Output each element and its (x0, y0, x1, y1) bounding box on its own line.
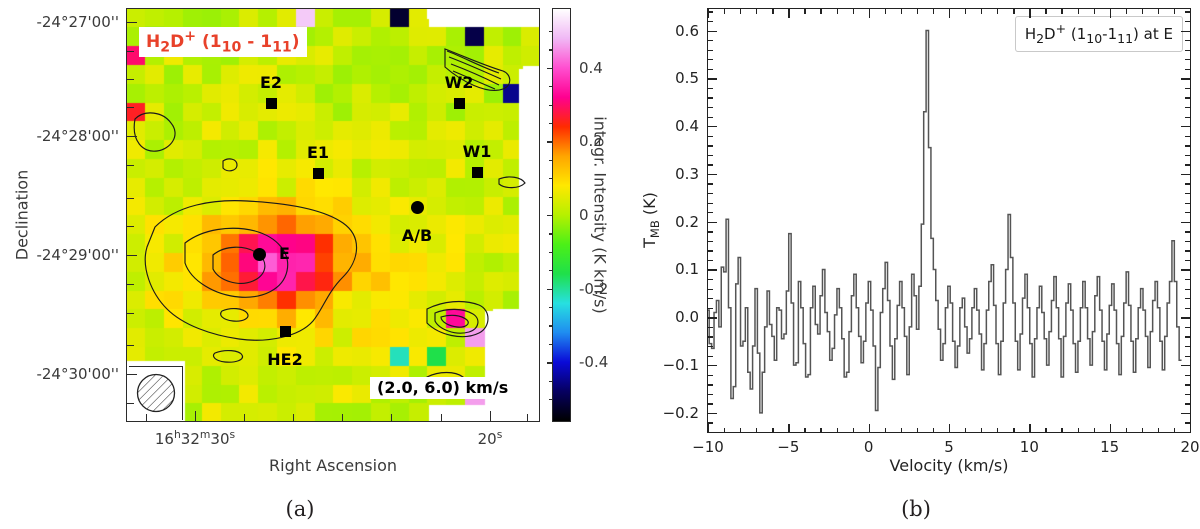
spectrum-y-tick-right (1185, 136, 1190, 137)
spectrum-y-tick-right (1185, 308, 1190, 309)
spectrum-y-tick (708, 365, 717, 366)
spectrum-y-minor-tick (708, 183, 713, 184)
spectrum-y-tick-right (1185, 193, 1190, 194)
spectrum-y-tick (708, 269, 717, 270)
spectrum-y-tick-right (1185, 50, 1190, 51)
spectrum-y-tick (708, 78, 717, 79)
spectrum-x-tick-top (869, 9, 870, 18)
spectrum-x-tick-top (965, 9, 966, 14)
spectrum-y-minor-tick (708, 69, 713, 70)
spectrum-x-minor-tick (997, 428, 998, 433)
spectrum-y-tick-right (1185, 183, 1190, 184)
spectrum-x-tick (1029, 424, 1030, 433)
spectrum-y-tick-right (1185, 327, 1190, 328)
spectrum-y-minor-tick (708, 231, 713, 232)
spectrum-x-minor-tick (965, 428, 966, 433)
spectrum-x-tick-top (1029, 9, 1030, 18)
spectrum-x-tick-label: 0 (864, 438, 874, 456)
spectrum-x-tick-label: −5 (777, 438, 799, 456)
spectrum-y-minor-tick (708, 375, 713, 376)
spectrum-y-tick-right (1181, 222, 1190, 223)
spectrum-y-tick-right (1185, 289, 1190, 290)
spectrum-y-tick-right (1185, 422, 1190, 423)
panel-b-letter: (b) (901, 497, 931, 521)
spectrum-y-minor-tick (708, 394, 713, 395)
spectrum-y-minor-tick (708, 21, 713, 22)
spectrum-y-tick-right (1185, 336, 1190, 337)
spectrum-x-minor-tick (1078, 428, 1079, 433)
spectrum-x-tick (1110, 424, 1111, 433)
spectrum-y-tick-right (1185, 145, 1190, 146)
spectrum-x-tick-top (949, 9, 950, 18)
spectrum-x-tick (1190, 424, 1191, 433)
spectrum-y-tick-right (1181, 31, 1190, 32)
spectrum-y-tick-right (1185, 260, 1190, 261)
spectrum-y-tick-right (1185, 298, 1190, 299)
spectrum-x-minor-tick (885, 428, 886, 433)
spectrum-x-minor-tick (724, 428, 725, 433)
spectrum-x-tick-top (788, 9, 789, 18)
spectrum-y-tick-label: 0.0 (653, 308, 699, 326)
spectrum-y-tick-right (1185, 241, 1190, 242)
spectrum-y-tick-label: 0.4 (653, 117, 699, 135)
spectrum-y-tick (708, 126, 717, 127)
spectrum-y-tick-label: 0.6 (653, 22, 699, 40)
spectrum-y-minor-tick (708, 336, 713, 337)
spectrum-x-tick-top (933, 9, 934, 14)
spectrum-x-tick-top (837, 9, 838, 14)
spectrum-y-minor-tick (708, 107, 713, 108)
spectrum-y-tick-right (1181, 126, 1190, 127)
spectrum-x-tick-top (981, 9, 982, 14)
figure-root: E2W2E1W1A/BEHE2 H2D+ (110 - 111) (2.0, 6… (0, 0, 1200, 529)
spectrum-y-tick (708, 174, 717, 175)
spectrum-y-tick-right (1185, 279, 1190, 280)
spectrum-x-tick-label: 15 (1100, 438, 1119, 456)
spectrum-x-tick-top (1174, 9, 1175, 14)
spectrum-x-tick-top (756, 9, 757, 14)
spectrum-y-tick-right (1185, 356, 1190, 357)
spectrum-y-minor-tick (708, 289, 713, 290)
spectrum-x-tick (949, 424, 950, 433)
spectrum-y-minor-tick (708, 145, 713, 146)
spectrum-y-tick-label: −0.1 (653, 356, 699, 374)
spectrum-y-tick-label: −0.2 (653, 404, 699, 422)
spectrum-y-tick-right (1185, 250, 1190, 251)
spectrum-x-minor-tick (1158, 428, 1159, 433)
spectrum-y-tick-label: 0.3 (653, 165, 699, 183)
spectrum-y-minor-tick (708, 327, 713, 328)
spectrum-y-tick-label: 0.5 (653, 69, 699, 87)
spectrum-y-minor-tick (708, 117, 713, 118)
spectrum-x-tick-top (1094, 9, 1095, 14)
spectrum-y-tick-right (1185, 107, 1190, 108)
spectrum-x-minor-tick (772, 428, 773, 433)
spectrum-y-minor-tick (708, 260, 713, 261)
spectrum-x-tick-top (1061, 9, 1062, 14)
spectrum-x-tick-top (1142, 9, 1143, 14)
spectrum-x-minor-tick (917, 428, 918, 433)
spectrum-x-minor-tick (837, 428, 838, 433)
spectrum-x-tick-label: 20 (1180, 438, 1199, 456)
spectrum-xlabel: Velocity (km/s) (890, 456, 1009, 475)
spectrum-x-tick-top (708, 9, 709, 18)
spectrum-x-tick-top (917, 9, 918, 14)
spectrum-x-tick-top (1045, 9, 1046, 14)
spectrum-y-tick-right (1185, 403, 1190, 404)
spectrum-y-minor-tick (708, 403, 713, 404)
spectrum-y-minor-tick (708, 59, 713, 60)
spectrum-x-tick-top (853, 9, 854, 14)
spectrum-y-minor-tick (708, 40, 713, 41)
spectrum-y-tick-right (1185, 21, 1190, 22)
spectrum-x-tick (869, 424, 870, 433)
spectrum-x-minor-tick (1013, 428, 1014, 433)
spectrum-y-tick-right (1185, 164, 1190, 165)
spectrum-y-tick-right (1185, 40, 1190, 41)
spectrum-y-tick-right (1181, 174, 1190, 175)
spectrum-y-minor-tick (708, 250, 713, 251)
spectrum-y-tick-right (1181, 413, 1190, 414)
spectrum-y-tick-right (1185, 212, 1190, 213)
spectrum-x-minor-tick (756, 428, 757, 433)
spectrum-y-tick (708, 222, 717, 223)
spectrum-y-minor-tick (708, 308, 713, 309)
spectrum-y-tick-right (1185, 117, 1190, 118)
spectrum-y-tick (708, 317, 717, 318)
spectrum-y-tick-label: 0.1 (653, 260, 699, 278)
spectrum-x-tick-top (1158, 9, 1159, 14)
spectrum-x-tick-top (1110, 9, 1111, 18)
spectrum-x-tick-label: 5 (944, 438, 954, 456)
spectrum-x-tick-top (1078, 9, 1079, 14)
spectrum-ylabel: TMB (K) (640, 192, 662, 248)
spectrum-x-minor-tick (1061, 428, 1062, 433)
spectrum-y-minor-tick (708, 11, 713, 12)
spectrum-y-tick-right (1185, 88, 1190, 89)
spectrum-x-minor-tick (804, 428, 805, 433)
spectrum-y-tick-right (1181, 269, 1190, 270)
spectrum-y-minor-tick (708, 356, 713, 357)
spectrum-x-tick-top (1126, 9, 1127, 14)
spectrum-x-tick-top (724, 9, 725, 14)
spectrum-y-tick-right (1185, 432, 1190, 433)
spectrum-x-minor-tick (1174, 428, 1175, 433)
spectrum-x-minor-tick (1094, 428, 1095, 433)
spectrum-axes: −10−505101520−0.2−0.10.00.10.20.30.40.50… (0, 0, 1200, 500)
spectrum-x-tick-label: −10 (692, 438, 724, 456)
spectrum-y-minor-tick (708, 346, 713, 347)
spectrum-y-minor-tick (708, 136, 713, 137)
spectrum-y-minor-tick (708, 155, 713, 156)
spectrum-y-tick (708, 31, 717, 32)
spectrum-x-tick-top (997, 9, 998, 14)
spectrum-x-tick-top (1190, 9, 1191, 18)
spectrum-y-tick-right (1185, 203, 1190, 204)
spectrum-x-minor-tick (1045, 428, 1046, 433)
spectrum-y-minor-tick (708, 298, 713, 299)
spectrum-y-tick-right (1185, 59, 1190, 60)
spectrum-x-minor-tick (901, 428, 902, 433)
spectrum-x-tick (788, 424, 789, 433)
spectrum-y-tick-right (1181, 78, 1190, 79)
spectrum-y-minor-tick (708, 384, 713, 385)
spectrum-x-minor-tick (933, 428, 934, 433)
spectrum-y-minor-tick (708, 193, 713, 194)
spectrum-x-minor-tick (820, 428, 821, 433)
spectrum-y-minor-tick (708, 203, 713, 204)
spectrum-y-tick-right (1185, 11, 1190, 12)
spectrum-x-minor-tick (1142, 428, 1143, 433)
spectrum-y-tick (708, 413, 717, 414)
spectrum-x-minor-tick (740, 428, 741, 433)
spectrum-y-minor-tick (708, 432, 713, 433)
spectrum-y-minor-tick (708, 279, 713, 280)
spectrum-x-tick-top (1013, 9, 1014, 14)
spectrum-x-minor-tick (853, 428, 854, 433)
panel-a-letter: (a) (286, 497, 315, 521)
spectrum-y-tick-right (1185, 97, 1190, 98)
spectrum-x-tick-top (740, 9, 741, 14)
spectrum-x-tick-top (885, 9, 886, 14)
spectrum-y-tick-right (1185, 69, 1190, 70)
spectrum-y-tick-right (1185, 231, 1190, 232)
spectrum-y-tick-right (1181, 317, 1190, 318)
spectrum-y-minor-tick (708, 88, 713, 89)
spectrum-y-tick-right (1185, 384, 1190, 385)
spectrum-y-minor-tick (708, 241, 713, 242)
spectrum-x-tick-top (804, 9, 805, 14)
spectrum-y-tick-right (1185, 375, 1190, 376)
spectrum-x-minor-tick (981, 428, 982, 433)
spectrum-x-tick-top (772, 9, 773, 14)
spectrum-y-tick-right (1185, 394, 1190, 395)
spectrum-y-minor-tick (708, 97, 713, 98)
spectrum-x-tick-top (820, 9, 821, 14)
spectrum-y-minor-tick (708, 164, 713, 165)
spectrum-y-tick-right (1185, 346, 1190, 347)
spectrum-x-tick-label: 10 (1020, 438, 1039, 456)
spectrum-x-minor-tick (1126, 428, 1127, 433)
spectrum-y-tick-right (1181, 365, 1190, 366)
spectrum-y-minor-tick (708, 422, 713, 423)
spectrum-y-tick-right (1185, 155, 1190, 156)
spectrum-x-tick-top (901, 9, 902, 14)
spectrum-y-minor-tick (708, 50, 713, 51)
spectrum-y-minor-tick (708, 212, 713, 213)
